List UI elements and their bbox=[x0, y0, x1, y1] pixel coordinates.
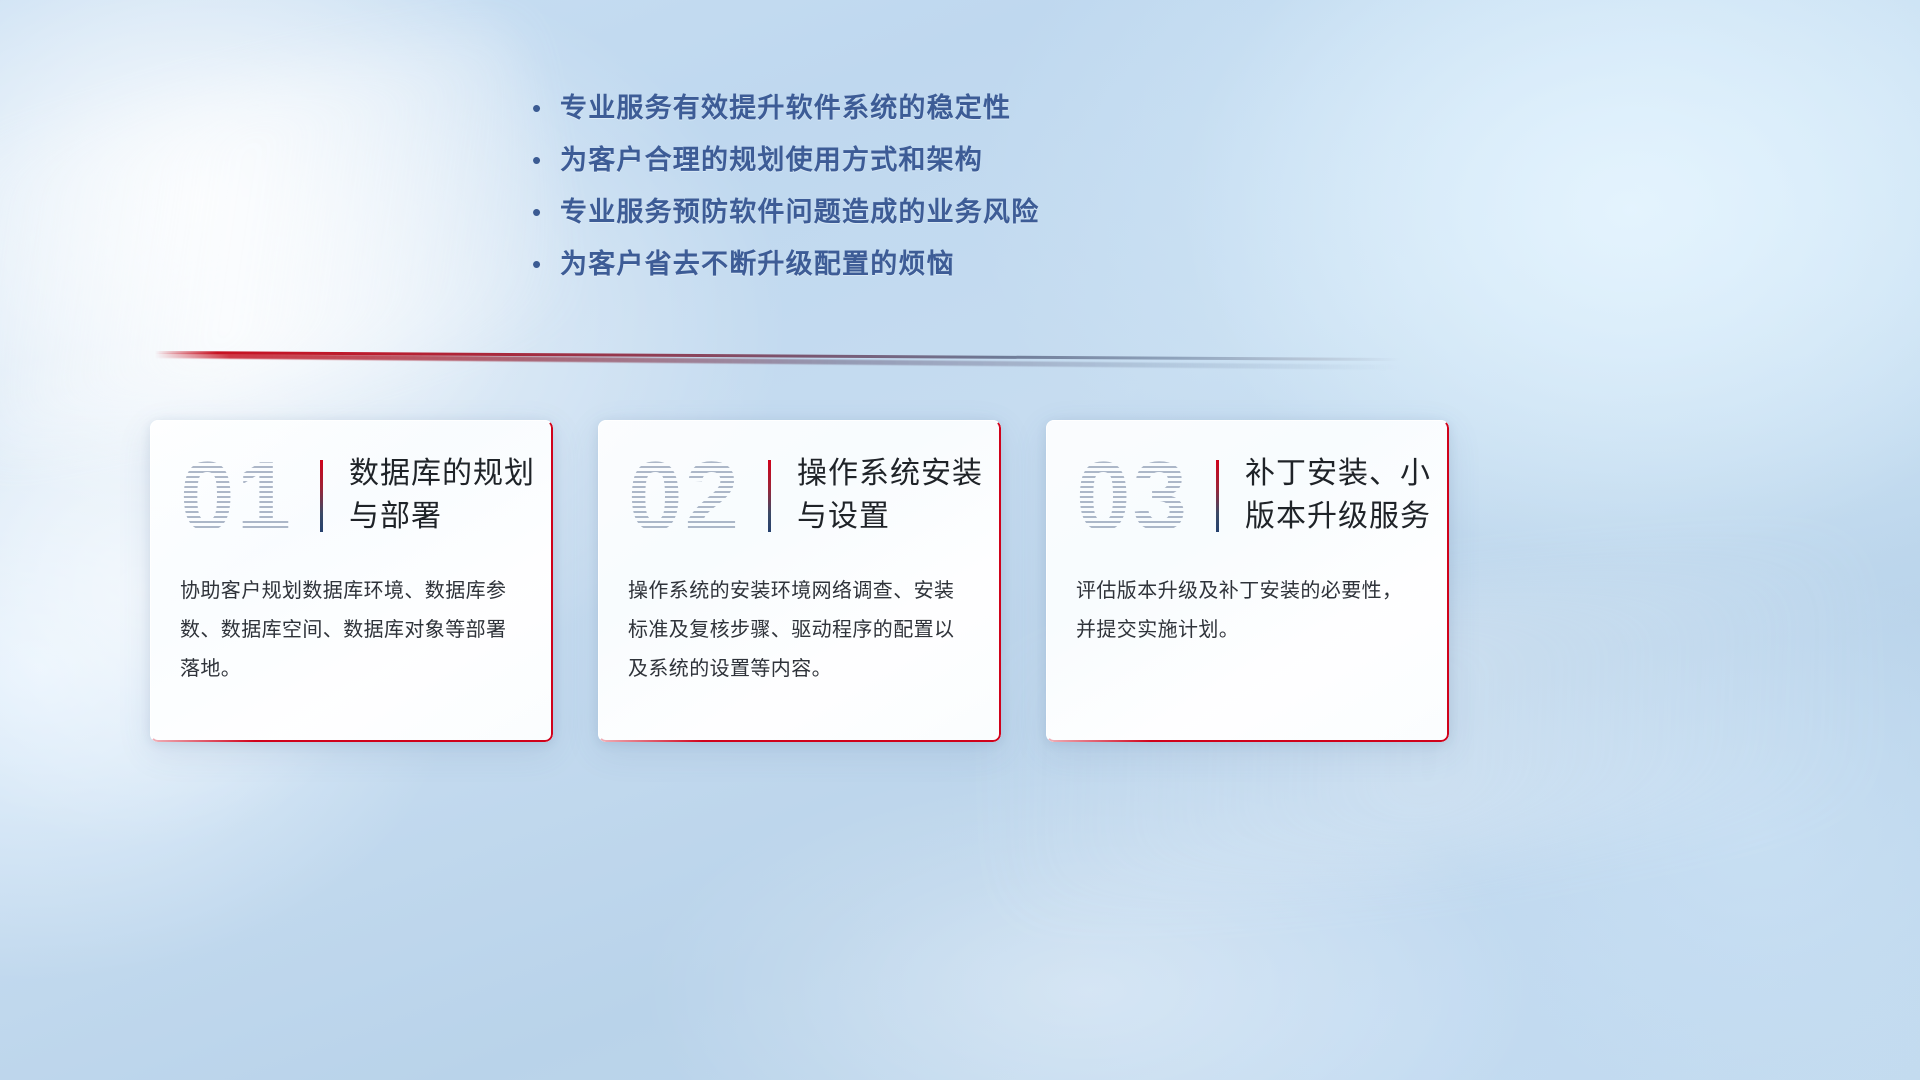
card-title-accent-rule bbox=[1216, 460, 1219, 532]
bullet-dot-icon: • bbox=[532, 199, 560, 225]
card-header: 03 补丁安装、小版本升级服务 bbox=[1046, 420, 1449, 572]
bullet-item-label: 专业服务预防软件问题造成的业务风险 bbox=[560, 190, 1039, 229]
bullet-item: • 专业服务有效提升软件系统的稳定性 bbox=[532, 86, 1292, 138]
card-number-text: 02 bbox=[628, 441, 741, 551]
divider-fill bbox=[155, 353, 1400, 370]
card-header: 01 数据库的规划与部署 bbox=[150, 420, 553, 572]
bullet-item: • 为客户合理的规划使用方式和架构 bbox=[532, 138, 1292, 190]
bullet-list: • 专业服务有效提升软件系统的稳定性 • 为客户合理的规划使用方式和架构 • 专… bbox=[532, 86, 1292, 294]
bullet-item-label: 为客户合理的规划使用方式和架构 bbox=[560, 138, 983, 177]
card-row: 01 数据库的规划与部署 协助客户规划数据库环境、数据库参数、数据库空间、数据库… bbox=[150, 420, 1450, 745]
bullet-item-label: 为客户省去不断升级配置的烦恼 bbox=[560, 242, 955, 281]
card-body-text: 协助客户规划数据库环境、数据库参数、数据库空间、数据库对象等部署落地。 bbox=[150, 572, 553, 689]
bullet-dot-icon: • bbox=[532, 95, 560, 121]
card-number-text: 01 bbox=[180, 441, 293, 551]
bullet-item: • 为客户省去不断升级配置的烦恼 bbox=[532, 242, 1292, 294]
card-body-text: 评估版本升级及补丁安装的必要性，并提交实施计划。 bbox=[1046, 572, 1449, 650]
card-title: 操作系统安装与设置 bbox=[797, 453, 997, 538]
card-title-accent-rule bbox=[768, 460, 771, 532]
bullet-item: • 专业服务预防软件问题造成的业务风险 bbox=[532, 190, 1292, 242]
service-card-02[interactable]: 02 操作系统安装与设置 操作系统的安装环境网络调查、安装标准及复核步骤、驱动程… bbox=[598, 420, 1001, 742]
bullet-dot-icon: • bbox=[532, 251, 560, 277]
bullet-dot-icon: • bbox=[532, 147, 560, 173]
card-header: 02 操作系统安装与设置 bbox=[598, 420, 1001, 572]
background-light-streak-left bbox=[0, 19, 587, 460]
background-glow-bottom bbox=[640, 760, 1540, 1080]
slide-canvas: • 专业服务有效提升软件系统的稳定性 • 为客户合理的规划使用方式和架构 • 专… bbox=[0, 0, 1920, 1080]
card-number-watermark: 03 bbox=[1076, 441, 1216, 551]
section-divider bbox=[155, 345, 1400, 363]
card-title: 数据库的规划与部署 bbox=[349, 453, 549, 538]
service-card-01[interactable]: 01 数据库的规划与部署 协助客户规划数据库环境、数据库参数、数据库空间、数据库… bbox=[150, 420, 553, 742]
background-glow-bottom-right bbox=[1450, 560, 1920, 1080]
service-card-03[interactable]: 03 补丁安装、小版本升级服务 评估版本升级及补丁安装的必要性，并提交实施计划。 bbox=[1046, 420, 1449, 742]
card-title: 补丁安装、小版本升级服务 bbox=[1245, 453, 1445, 538]
card-number-text: 03 bbox=[1076, 441, 1189, 551]
card-number-watermark: 01 bbox=[180, 441, 320, 551]
divider-top-edge bbox=[155, 351, 1400, 361]
card-body-text: 操作系统的安装环境网络调查、安装标准及复核步骤、驱动程序的配置以及系统的设置等内… bbox=[598, 572, 1001, 689]
bullet-item-label: 专业服务有效提升软件系统的稳定性 bbox=[560, 86, 1011, 125]
card-number-watermark: 02 bbox=[628, 441, 768, 551]
card-title-accent-rule bbox=[320, 460, 323, 532]
